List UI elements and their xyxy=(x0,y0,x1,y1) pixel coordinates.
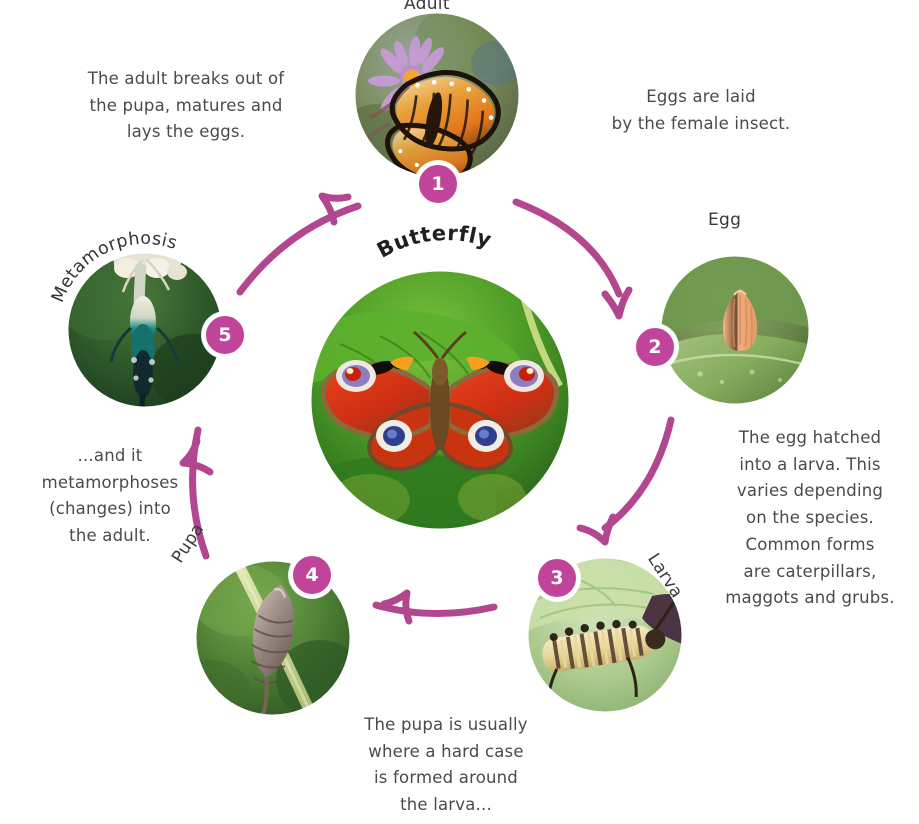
stage-label-metamorphosis: Metamorphosis xyxy=(48,229,179,306)
butterfly-life-cycle-diagram: Metamorphosis Butterfly Adult Egg Larva … xyxy=(0,0,919,824)
stage-label-egg: Egg xyxy=(708,210,741,230)
stage-badge-4[interactable]: 4 xyxy=(289,552,335,598)
stage-badge-5[interactable]: 5 xyxy=(202,312,248,358)
stage-label-adult: Adult xyxy=(404,0,450,14)
stage-badge-3[interactable]: 3 xyxy=(534,555,580,601)
curved-labels-layer: Metamorphosis Butterfly xyxy=(0,0,919,824)
stage-badge-2[interactable]: 2 xyxy=(632,324,678,370)
centre-title: Butterfly xyxy=(373,221,495,263)
stage-badge-1[interactable]: 1 xyxy=(415,161,461,207)
